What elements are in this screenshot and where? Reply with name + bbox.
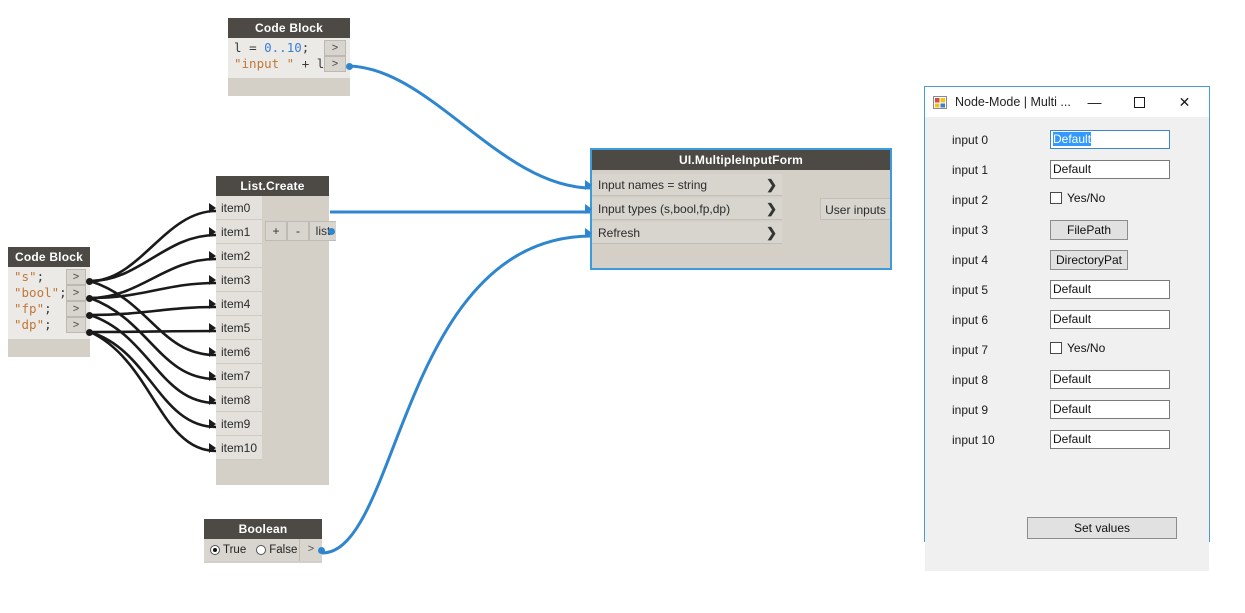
node-body: "s";>"bool";>"fp";>"dp";> xyxy=(8,267,90,339)
input-connector-arrow xyxy=(209,347,216,357)
browse-button-3[interactable]: FilePath xyxy=(1050,220,1128,240)
input-connector-arrow xyxy=(209,419,216,429)
list-item-input-6[interactable]: item6 xyxy=(216,340,262,364)
input-row-label: input 3 xyxy=(952,223,988,237)
checkbox-label: Yes/No xyxy=(1067,341,1105,355)
text-input-5[interactable]: Default xyxy=(1050,280,1170,299)
list-item-input-5[interactable]: item5 xyxy=(216,316,262,340)
node-ui-multipleinputform[interactable]: UI.MultipleInputForm Input names = strin… xyxy=(592,150,890,268)
input-row-label: input 2 xyxy=(952,193,988,207)
code-editor[interactable]: "s";>"bool";>"fp";>"dp";> xyxy=(8,267,90,339)
input-port-0[interactable]: Input names = string❯ xyxy=(592,174,782,196)
wire-group-black xyxy=(90,211,216,451)
list-item-label: item4 xyxy=(221,297,250,311)
browse-button-4[interactable]: DirectoryPat xyxy=(1050,250,1128,270)
output-port-1[interactable]: > xyxy=(66,285,86,301)
output-connector-dot xyxy=(328,228,335,235)
maximize-icon xyxy=(1134,97,1145,108)
code-token: ; xyxy=(302,40,310,55)
checkbox-box-icon[interactable] xyxy=(1050,192,1062,204)
code-line: "dp";> xyxy=(14,317,86,333)
output-connector-dot xyxy=(86,329,93,336)
input-row-label: input 4 xyxy=(952,253,988,267)
node-body: Input names = string❯Input types (s,bool… xyxy=(592,170,890,268)
text-input-0[interactable]: Default xyxy=(1050,130,1170,149)
input-connector-arrow xyxy=(209,371,216,381)
input-connector-arrow xyxy=(209,299,216,309)
input-row-0: input 0Default xyxy=(925,130,1209,154)
boolean-options[interactable]: True False > xyxy=(204,539,322,561)
code-editor[interactable]: l = 0..10;>"input " + l;> xyxy=(228,38,350,78)
input-row-label: input 0 xyxy=(952,133,988,147)
code-token: "dp" xyxy=(14,317,44,332)
output-port-1[interactable]: > xyxy=(324,56,346,72)
radio-true-label: True xyxy=(223,544,246,556)
text-input-10[interactable]: Default xyxy=(1050,430,1170,449)
node-title: List.Create xyxy=(216,176,329,196)
text-input-8[interactable]: Default xyxy=(1050,370,1170,389)
input-connector-arrow xyxy=(585,204,592,214)
input-connector-arrow xyxy=(585,228,592,238)
list-item-input-1[interactable]: item1 xyxy=(216,220,262,244)
selected-text: Default xyxy=(1053,132,1091,146)
input-connector-arrow xyxy=(209,443,216,453)
input-row-9: input 9Default xyxy=(925,400,1209,424)
output-connector-dot xyxy=(86,312,93,319)
add-item-button[interactable]: + xyxy=(265,221,287,241)
node-code-block-left[interactable]: Code Block "s";>"bool";>"fp";>"dp";> xyxy=(8,247,90,357)
code-line: l = 0..10;> xyxy=(234,40,346,56)
input-row-10: input 10Default xyxy=(925,430,1209,454)
list-item-label: item5 xyxy=(221,321,250,335)
list-item-label: item9 xyxy=(221,417,250,431)
input-row-label: input 6 xyxy=(952,313,988,327)
code-token: "fp" xyxy=(14,301,44,316)
chevron-right-icon: ❯ xyxy=(766,198,777,220)
node-title: Code Block xyxy=(228,18,350,38)
input-row-label: input 10 xyxy=(952,433,995,447)
windows-form-icon xyxy=(933,95,948,110)
wire-group-blue xyxy=(322,66,592,553)
input-row-label: input 7 xyxy=(952,343,988,357)
code-line: "input " + l;> xyxy=(234,56,346,72)
input-row-5: input 5Default xyxy=(925,280,1209,304)
radio-true[interactable] xyxy=(210,545,220,555)
checkbox-label: Yes/No xyxy=(1067,191,1105,205)
output-port-0[interactable]: > xyxy=(324,40,346,56)
radio-false[interactable] xyxy=(256,545,266,555)
code-token: l xyxy=(234,40,249,55)
close-button[interactable]: ✕ xyxy=(1162,88,1207,117)
dialog-titlebar[interactable]: Node-Mode | Multi ... — ✕ xyxy=(925,87,1209,117)
input-row-label: input 5 xyxy=(952,283,988,297)
node-title: UI.MultipleInputForm xyxy=(592,150,890,170)
output-connector-dot xyxy=(86,295,93,302)
input-row-4: input 4DirectoryPat xyxy=(925,250,1209,274)
input-port-label: Input names = string xyxy=(598,178,707,192)
set-values-button[interactable]: Set values xyxy=(1027,517,1177,539)
remove-item-button[interactable]: - xyxy=(287,221,309,241)
output-port-user-inputs[interactable]: User inputs xyxy=(820,198,890,220)
input-row-label: input 8 xyxy=(952,373,988,387)
checkbox-box-icon[interactable] xyxy=(1050,342,1062,354)
input-connector-arrow xyxy=(585,180,592,190)
input-row-1: input 1Default xyxy=(925,160,1209,184)
chevron-right-icon: ❯ xyxy=(766,174,777,196)
dialog-title: Node-Mode | Multi ... xyxy=(955,95,1072,109)
code-token: ; xyxy=(37,269,45,284)
node-title: Boolean xyxy=(204,519,322,539)
input-port-1[interactable]: Input types (s,bool,fp,dp)❯ xyxy=(592,198,782,220)
chevron-right-icon: ❯ xyxy=(766,222,777,244)
node-code-block-top[interactable]: Code Block l = 0..10;>"input " + l;> xyxy=(228,18,350,96)
code-token: ; xyxy=(44,301,52,316)
text-input-6[interactable]: Default xyxy=(1050,310,1170,329)
multiple-input-dialog[interactable]: Node-Mode | Multi ... — ✕ input 0Default… xyxy=(924,86,1210,542)
input-connector-arrow xyxy=(209,251,216,261)
code-token: ; xyxy=(44,317,52,332)
node-body: True False > xyxy=(204,539,322,561)
list-item-label: item0 xyxy=(221,201,250,215)
code-line: "bool";> xyxy=(14,285,86,301)
minimize-button[interactable]: — xyxy=(1072,88,1117,117)
list-item-label: item6 xyxy=(221,345,250,359)
list-item-label: item7 xyxy=(221,369,250,383)
code-token: + xyxy=(294,56,317,71)
list-item-input-0[interactable]: item0 xyxy=(216,196,262,220)
code-line: "fp";> xyxy=(14,301,86,317)
list-item-label: item2 xyxy=(221,249,250,263)
list-item-label: item3 xyxy=(221,273,250,287)
output-port-2[interactable]: > xyxy=(66,301,86,317)
input-connector-arrow xyxy=(209,275,216,285)
input-connector-arrow xyxy=(209,227,216,237)
output-connector-dot xyxy=(86,278,93,285)
output-port-3[interactable]: > xyxy=(66,317,86,333)
output-port-0[interactable]: > xyxy=(66,269,86,285)
dialog-body: input 0Defaultinput 1Defaultinput 2Yes/N… xyxy=(925,117,1209,571)
code-token: 0..10 xyxy=(264,40,302,55)
input-row-6: input 6Default xyxy=(925,310,1209,334)
input-row-3: input 3FilePath xyxy=(925,220,1209,244)
text-input-1[interactable]: Default xyxy=(1050,160,1170,179)
code-token: "input " xyxy=(234,56,294,71)
code-line: "s";> xyxy=(14,269,86,285)
list-item-input-9[interactable]: item9 xyxy=(216,412,262,436)
input-port-list: Input names = string❯Input types (s,bool… xyxy=(592,170,782,244)
output-connector-dot xyxy=(318,547,325,554)
list-item-label: item1 xyxy=(221,225,250,239)
input-connector-arrow xyxy=(209,395,216,405)
input-port-label: Refresh xyxy=(598,226,640,240)
code-token: = xyxy=(249,40,264,55)
list-item-input-4[interactable]: item4 xyxy=(216,292,262,316)
input-row-label: input 9 xyxy=(952,403,988,417)
node-body: l = 0..10;>"input " + l;> xyxy=(228,38,350,78)
output-connector-dot xyxy=(346,63,353,70)
code-token: "bool" xyxy=(14,285,59,300)
input-port-label: Input types (s,bool,fp,dp) xyxy=(598,202,730,216)
list-item-label: item10 xyxy=(221,441,257,455)
input-connector-arrow xyxy=(209,323,216,333)
text-input-9[interactable]: Default xyxy=(1050,400,1170,419)
input-row-8: input 8Default xyxy=(925,370,1209,394)
input-port-2[interactable]: Refresh❯ xyxy=(592,222,782,244)
list-item-input-3[interactable]: item3 xyxy=(216,268,262,292)
list-item-label: item8 xyxy=(221,393,250,407)
maximize-button[interactable] xyxy=(1117,88,1162,117)
list-item-input-7[interactable]: item7 xyxy=(216,364,262,388)
node-title: Code Block xyxy=(8,247,90,267)
node-boolean[interactable]: Boolean True False > xyxy=(204,519,322,563)
input-row-2: input 2Yes/No xyxy=(925,190,1209,214)
radio-false-label: False xyxy=(269,544,297,556)
code-token: "s" xyxy=(14,269,37,284)
input-connector-arrow xyxy=(209,203,216,213)
node-list-create[interactable]: List.Create item0item1item2item3item4ite… xyxy=(216,176,329,485)
list-item-input-8[interactable]: item8 xyxy=(216,388,262,412)
checkbox-7[interactable]: Yes/No xyxy=(1050,341,1105,355)
node-body: item0item1item2item3item4item5item6item7… xyxy=(216,196,329,485)
input-row-label: input 1 xyxy=(952,163,988,177)
input-row-7: input 7Yes/No xyxy=(925,340,1209,364)
list-item-input-10[interactable]: item10 xyxy=(216,436,262,460)
checkbox-2[interactable]: Yes/No xyxy=(1050,191,1105,205)
list-item-input-2[interactable]: item2 xyxy=(216,244,262,268)
